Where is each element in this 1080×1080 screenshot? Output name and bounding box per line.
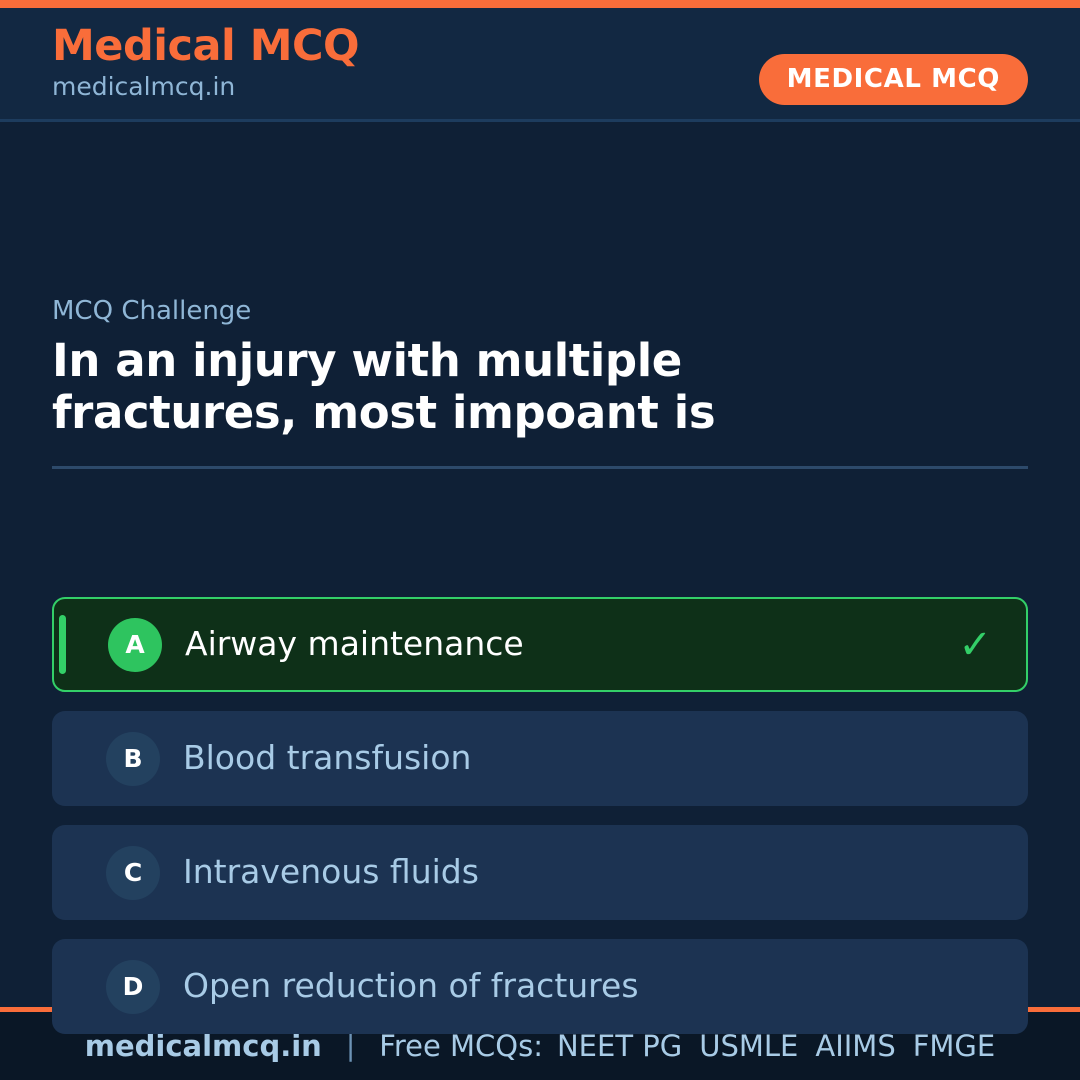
selected-accent-bar (59, 615, 66, 674)
footer-tag-neet-pg[interactable]: NEET PG (557, 1032, 682, 1061)
option-d-letter: D (106, 960, 160, 1014)
question-kicker: MCQ Challenge (52, 296, 1028, 327)
question-block: MCQ Challenge In an injury with multiple… (52, 296, 1028, 469)
brand-subtitle: medicalmcq.in (52, 71, 359, 102)
body: MCQ Challenge In an injury with multiple… (0, 122, 1080, 1007)
footer-site[interactable]: medicalmcq.in (85, 1032, 322, 1061)
option-a-text: Airway maintenance (185, 626, 958, 662)
footer-label: Free MCQs: (379, 1032, 543, 1061)
footer-tag-aiims[interactable]: AIIMS (815, 1032, 895, 1061)
option-b[interactable]: B Blood transfusion ✓ (52, 711, 1028, 806)
option-d[interactable]: D Open reduction of fractures ✓ (52, 939, 1028, 1034)
footer-tag-usmle[interactable]: USMLE (699, 1032, 798, 1061)
option-a-letter: A (108, 618, 162, 672)
check-icon: ✓ (958, 625, 992, 665)
option-c-letter: C (106, 846, 160, 900)
question-divider (52, 466, 1028, 469)
footer-tag-fmge[interactable]: FMGE (913, 1032, 996, 1061)
brand: Medical MCQ medicalmcq.in (52, 25, 359, 102)
question-text: In an injury with multiple fractures, mo… (52, 335, 852, 439)
mcq-card: Medical MCQ medicalmcq.in MEDICAL MCQ MC… (0, 0, 1080, 1080)
header: Medical MCQ medicalmcq.in MEDICAL MCQ (0, 8, 1080, 122)
option-c-text: Intravenous fluids (183, 854, 1000, 890)
brand-title: Medical MCQ (52, 25, 359, 69)
option-b-letter: B (106, 732, 160, 786)
options-list: A Airway maintenance ✓ B Blood transfusi… (52, 597, 1028, 1034)
option-d-text: Open reduction of fractures (183, 968, 1000, 1004)
top-accent-bar (0, 0, 1080, 8)
option-a[interactable]: A Airway maintenance ✓ (52, 597, 1028, 692)
footer-separator: | (346, 1032, 355, 1060)
option-b-text: Blood transfusion (183, 740, 1000, 776)
option-c[interactable]: C Intravenous fluids ✓ (52, 825, 1028, 920)
brand-badge: MEDICAL MCQ (759, 54, 1028, 105)
